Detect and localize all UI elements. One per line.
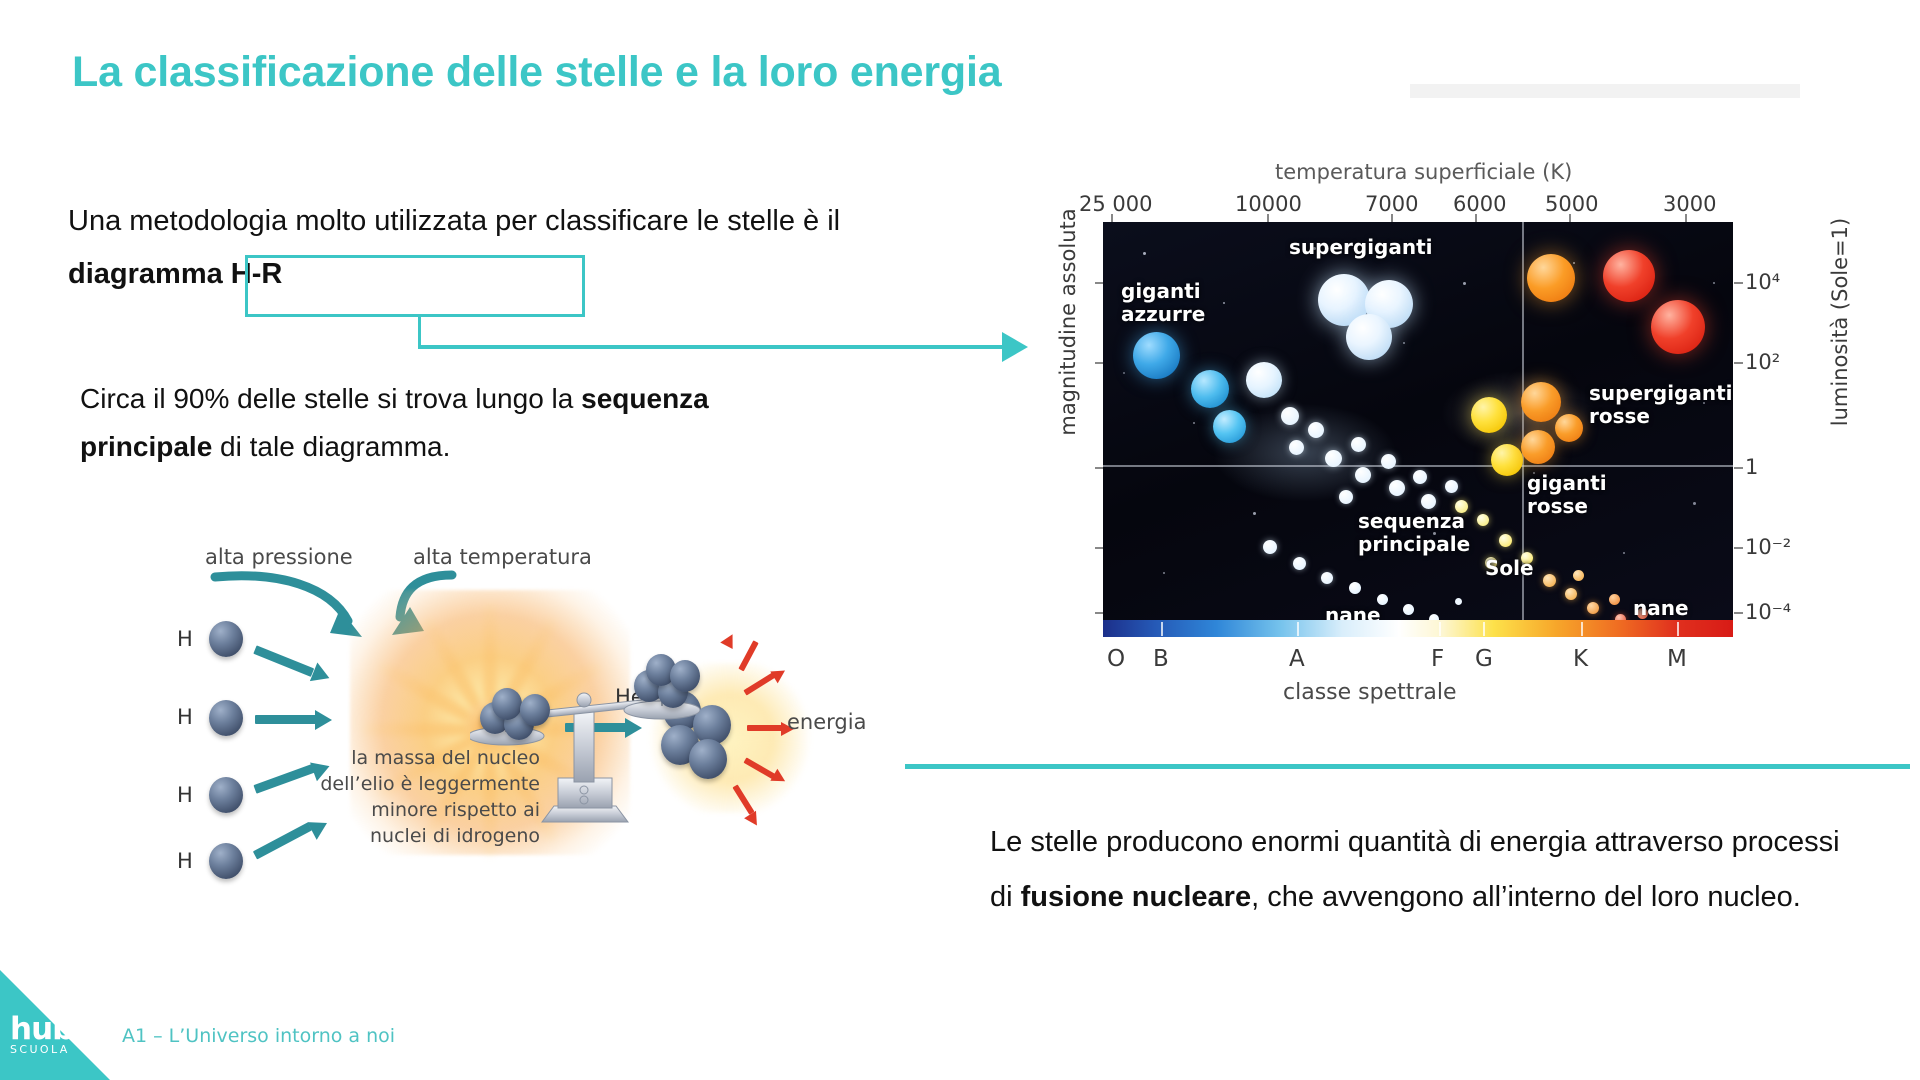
bg-star: [1573, 262, 1575, 264]
temp-tick-0: 25 000: [1079, 192, 1152, 216]
star-main-sequence: [1381, 454, 1396, 469]
star-main-sequence: [1355, 467, 1371, 483]
fusion-input-arrow: [253, 822, 312, 859]
temp-tick-5: 3000: [1663, 192, 1716, 216]
bg-star: [1463, 282, 1466, 285]
lum-tickmark-2: [1734, 467, 1743, 469]
label-line-1: sequenza: [1358, 509, 1465, 533]
connector-horizontal: [418, 345, 1008, 349]
label-sole: Sole: [1485, 557, 1534, 580]
spectral-class-F: F: [1431, 646, 1444, 672]
hr-x-axis-label: classe spettrale: [1283, 680, 1457, 705]
star-main-sequence-orange: [1573, 570, 1584, 581]
hydrogen-label: H: [177, 849, 193, 873]
connector-arrowhead-icon: [1002, 332, 1028, 362]
spectral-class-M: M: [1667, 646, 1687, 672]
footer-text: A1 – L’Universo intorno a noi: [122, 1025, 395, 1047]
star-main-sequence-orange: [1587, 602, 1599, 614]
fusion-input-arrowhead-icon: [315, 710, 332, 730]
fusion-caption: la massa del nucleo dell’elio è leggerme…: [310, 745, 540, 849]
label-line-2: rosse: [1527, 494, 1588, 518]
hydrogen-label: H: [177, 783, 193, 807]
spectral-class-A: A: [1289, 646, 1305, 672]
star-main-sequence-orange: [1565, 588, 1577, 600]
hydrogen-label: H: [177, 705, 193, 729]
star-main-sequence: [1445, 480, 1458, 493]
connector-vertical: [418, 315, 421, 348]
lum-tick-3: 10⁻²: [1745, 535, 1791, 559]
hydrogen-label: H: [177, 627, 193, 651]
spectral-class-O: O: [1107, 646, 1125, 672]
energy-arrow: [747, 725, 783, 731]
paragraph-three-bold: fusione nucleare: [1021, 881, 1251, 913]
lum-tickmark-4: [1734, 612, 1743, 614]
paragraph-three-text-end: , che avvengono all’interno del loro nuc…: [1251, 881, 1801, 913]
paragraph-two: Circa il 90% delle stelle si trova lungo…: [80, 375, 800, 471]
proton-icon: [209, 700, 243, 736]
proton-icon: [209, 843, 243, 879]
star-giant-red: [1555, 414, 1583, 442]
energy-arrowhead-icon: [744, 811, 763, 829]
spectral-tickmark: [1483, 622, 1485, 636]
label-nane-rosse: nane rosse: [1633, 597, 1694, 620]
bg-star: [1143, 252, 1146, 255]
star-main-sequence: [1413, 470, 1427, 484]
star-main-sequence: [1421, 494, 1436, 509]
hr-top-axis-label: temperatura superficiale (K): [1275, 160, 1572, 184]
star-white-dwarf: [1455, 598, 1462, 605]
lum-tick-4: 10⁻⁴: [1745, 600, 1791, 624]
star-white-dwarf: [1349, 582, 1361, 594]
label-line-1: nane: [1325, 603, 1381, 620]
label-line-2: principale: [1358, 532, 1470, 556]
paragraph-two-text-end: di tale diagramma.: [212, 431, 450, 462]
proton-icon: [670, 660, 700, 692]
label-nane-bianche: nane bianche: [1325, 604, 1414, 620]
paragraph-two-text: Circa il 90% delle stelle si trova lungo…: [80, 383, 581, 414]
logo-word: hub: [10, 1015, 94, 1043]
hr-diagram: temperatura superficiale (K) 25 000 1000…: [1035, 160, 1895, 760]
temp-tick-1: 10000: [1235, 192, 1302, 216]
label-line-1: supergiganti: [1589, 381, 1733, 405]
lum-tick-2: 1: [1745, 455, 1758, 479]
bg-star: [1253, 512, 1256, 515]
decorative-bar: [1410, 84, 1800, 98]
bg-star: [1623, 552, 1625, 554]
hr-plot-area: giganti azzurre supergiganti sequenza pr…: [1103, 222, 1733, 620]
temp-tick-2: 7000: [1365, 192, 1418, 216]
bg-star: [1123, 372, 1125, 374]
star-main-sequence: [1351, 437, 1366, 452]
star-main-sequence: [1281, 407, 1299, 425]
star-main-sequence: [1339, 490, 1353, 504]
label-line-2: azzurre: [1121, 302, 1205, 326]
star-main-sequence-orange: [1609, 594, 1620, 605]
lum-tick-0: 10⁴: [1745, 270, 1780, 294]
star-giant-yellow: [1491, 444, 1523, 476]
star-main-sequence: [1308, 422, 1324, 438]
star-blue-giant: [1213, 410, 1246, 443]
temp-tick-4: 5000: [1545, 192, 1598, 216]
temp-tick-3: 6000: [1453, 192, 1506, 216]
star-white-dwarf: [1263, 540, 1277, 554]
star-main-sequence-yellow: [1499, 534, 1512, 547]
bg-star: [1223, 302, 1225, 304]
label-supergiganti-rosse: supergiganti rosse: [1589, 382, 1733, 428]
label-energia: energia: [787, 710, 866, 734]
fusion-input-arrow: [253, 764, 314, 794]
star-blue-giant: [1191, 370, 1229, 408]
star-main-sequence-yellow: [1477, 514, 1489, 526]
paragraph-three: Le stelle producono enormi quantità di e…: [990, 815, 1870, 925]
star-supergiant-red: [1651, 300, 1705, 354]
fusion-input-arrowhead-icon: [310, 663, 333, 688]
slide-root: La classificazione delle stelle e la lor…: [0, 0, 1920, 1080]
fusion-input-arrow: [253, 645, 314, 677]
bg-star: [1163, 572, 1165, 574]
proton-icon: [209, 777, 243, 813]
star-supergiant-orange: [1527, 254, 1575, 302]
spectral-color-bar: [1103, 620, 1733, 637]
bg-star: [1403, 342, 1405, 344]
label-line-2: rosse: [1589, 404, 1650, 428]
grid-horizontal: [1103, 465, 1733, 467]
star-giant-red: [1521, 430, 1555, 464]
hr-y-axis-label: magnitudine assoluta: [1056, 197, 1080, 447]
callout-box: [245, 255, 585, 317]
lum-tickmark-0: [1734, 282, 1743, 284]
star-main-sequence: [1389, 480, 1405, 496]
lum-tick-1: 10²: [1745, 350, 1780, 374]
label-line-1: giganti: [1527, 471, 1607, 495]
star-white-dwarf: [1293, 557, 1306, 570]
lum-tickmark-1: [1734, 362, 1743, 364]
hub-scuola-logo: hub SCUOLA: [10, 1015, 94, 1056]
star-supergiant: [1346, 314, 1392, 360]
spectral-tickmark: [1161, 622, 1163, 636]
label-alta-temperatura: alta temperatura: [413, 545, 592, 569]
star-blue-giant: [1133, 332, 1180, 379]
bg-star: [1713, 282, 1715, 284]
star-main-sequence: [1246, 362, 1282, 398]
spectral-tickmark: [1581, 622, 1583, 636]
spectral-class-K: K: [1573, 646, 1588, 672]
hr-y2-axis-label: luminosità (Sole=1): [1828, 197, 1852, 447]
label-giganti-rosse: giganti rosse: [1527, 472, 1607, 518]
star-supergiant-red: [1603, 250, 1655, 302]
spectral-tickmark: [1677, 622, 1679, 636]
fusion-input-arrow: [255, 715, 317, 724]
label-line-1: nane: [1633, 596, 1689, 620]
star-giant-red: [1521, 382, 1561, 422]
lum-tickmark-3: [1734, 547, 1743, 549]
page-title: La classificazione delle stelle e la lor…: [72, 48, 1001, 97]
spectral-class-B: B: [1153, 646, 1169, 672]
bg-star: [1693, 502, 1696, 505]
proton-icon: [492, 688, 522, 720]
proton-icon: [520, 694, 550, 726]
star-main-sequence: [1289, 440, 1304, 455]
section-divider: [905, 764, 1910, 769]
spectral-tickmark: [1439, 622, 1441, 636]
star-giant-yellow: [1471, 397, 1507, 433]
label-supergiganti: supergiganti: [1289, 236, 1433, 259]
star-main-sequence-orange: [1543, 574, 1556, 587]
energy-arrowhead-icon: [720, 631, 738, 649]
star-main-sequence: [1325, 450, 1342, 467]
label-alta-pressione: alta pressione: [205, 545, 353, 569]
spectral-class-G: G: [1475, 646, 1493, 672]
paragraph-one-text: Una metodologia molto utilizzata per cla…: [68, 205, 840, 237]
star-white-dwarf: [1321, 572, 1333, 584]
bg-star: [1193, 422, 1195, 424]
logo-subtitle: SCUOLA: [10, 1043, 94, 1056]
label-line-1: giganti: [1121, 279, 1201, 303]
proton-icon: [209, 621, 243, 657]
label-giganti-azzurre: giganti azzurre: [1121, 280, 1205, 326]
label-sequenza-principale: sequenza principale: [1358, 510, 1470, 556]
spectral-tickmark: [1297, 622, 1299, 636]
